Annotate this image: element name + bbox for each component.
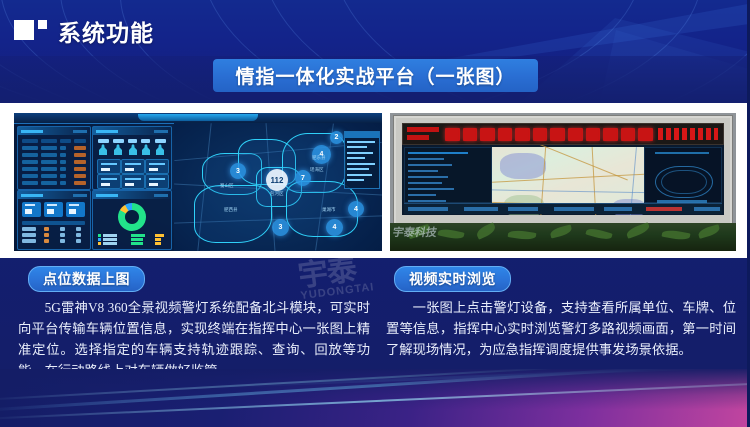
map-cluster-marker[interactable]: 2	[330, 131, 343, 144]
page-title: 系统功能	[58, 14, 154, 48]
bottom-decorative-band	[0, 369, 750, 427]
panel-alarm-table	[17, 126, 91, 190]
page-header: 系统功能	[14, 16, 154, 46]
stat-chip	[121, 174, 145, 189]
panel-type-distribution	[92, 190, 172, 250]
led-small-text	[407, 127, 439, 132]
photo-watermark: 宇泰科技	[390, 224, 480, 250]
stat-box	[22, 202, 41, 217]
led-small-text	[407, 135, 429, 140]
section-body-right-text: 一张图上点击警灯设备，支持查看所属单位、车牌、位置等信息，指挥中心实时浏览警灯多…	[386, 297, 736, 360]
map-label: 巢湖市	[322, 207, 336, 213]
gis-map[interactable]: 2 4 3 112 7 4 3 4 瑶海区 肥东县 蜀山区 包河区 肥西县 巢湖…	[174, 123, 382, 251]
donut-chart	[118, 203, 146, 231]
map-label: 肥东县	[312, 155, 326, 161]
person-icon	[114, 144, 122, 155]
panel-title-bar	[93, 191, 171, 199]
map-cluster-marker[interactable]: 7	[295, 170, 311, 186]
panel-duty-list	[17, 190, 91, 250]
map-cluster-marker-primary[interactable]: 112	[266, 169, 288, 191]
person-icon	[156, 144, 164, 155]
dashboard-canvas: 2 4 3 112 7 4 3 4 瑶海区 肥东县 蜀山区 包河区 肥西县 巢湖…	[14, 113, 382, 251]
screen-right-analytics-panel	[644, 147, 722, 203]
stat-chip	[145, 174, 169, 189]
section-pill-right-label: 视频实时浏览	[409, 269, 496, 289]
stat-box	[66, 202, 85, 217]
map-cluster-marker[interactable]: 3	[230, 163, 246, 179]
screen-left-tree-panel	[404, 147, 492, 203]
stat-chip	[97, 174, 121, 189]
map-label: 蜀山区	[220, 183, 234, 189]
platform-banner-title: 情指一体化实战平台（一张图）	[235, 62, 515, 89]
led-clock-text	[658, 128, 718, 140]
band-fade-overlay	[0, 369, 750, 427]
stat-chip	[121, 159, 145, 174]
map-label: 包河区	[270, 191, 284, 197]
panel-personnel-stats	[92, 126, 172, 190]
wall-screen	[402, 145, 724, 215]
panel-title-bar	[93, 127, 171, 135]
person-icon	[142, 144, 150, 155]
led-headline-text	[445, 127, 653, 141]
globe-icon	[661, 170, 707, 194]
platform-banner: 情指一体化实战平台（一张图）	[213, 59, 538, 92]
map-cluster-marker[interactable]: 3	[272, 219, 289, 236]
square-bullet-icon	[14, 20, 48, 42]
person-icon	[99, 144, 107, 155]
photo-canvas: 宇泰科技	[390, 113, 736, 251]
panel-title-bar	[18, 191, 90, 199]
command-center-photo[interactable]: 宇泰科技	[390, 113, 736, 251]
map-cluster-marker[interactable]: 4	[326, 219, 343, 236]
stat-box	[44, 202, 63, 217]
bullet-large-square	[14, 20, 34, 40]
map-label: 瑶海区	[310, 167, 324, 173]
stat-chip	[97, 159, 121, 174]
section-pill-left-label: 点位数据上图	[43, 269, 130, 289]
section-pill-left: 点位数据上图	[28, 266, 145, 292]
map-label: 肥西县	[224, 207, 238, 213]
stat-chip	[145, 159, 169, 174]
led-marquee	[402, 123, 724, 145]
bullet-small-square	[38, 20, 47, 29]
screen-taskbar	[404, 203, 722, 214]
map-cluster-marker[interactable]: 4	[348, 201, 364, 217]
panel-title-bar	[18, 127, 90, 135]
section-pill-right: 视频实时浏览	[394, 266, 511, 292]
map-info-popup[interactable]	[344, 131, 380, 189]
dashboard-screenshot[interactable]: 2 4 3 112 7 4 3 4 瑶海区 肥东县 蜀山区 包河区 肥西县 巢湖…	[14, 113, 382, 251]
section-body-right: 一张图上点击警灯设备，支持查看所属单位、车牌、位置等信息，指挥中心实时浏览警灯多…	[386, 297, 736, 360]
slide-root: 系统功能 情指一体化实战平台（一张图）	[0, 0, 750, 427]
video-wall-frame	[394, 116, 732, 225]
screenshot-row: 2 4 3 112 7 4 3 4 瑶海区 肥东县 蜀山区 包河区 肥西县 巢湖…	[14, 113, 736, 251]
screen-gis-map	[492, 147, 644, 203]
person-icon	[129, 144, 137, 155]
